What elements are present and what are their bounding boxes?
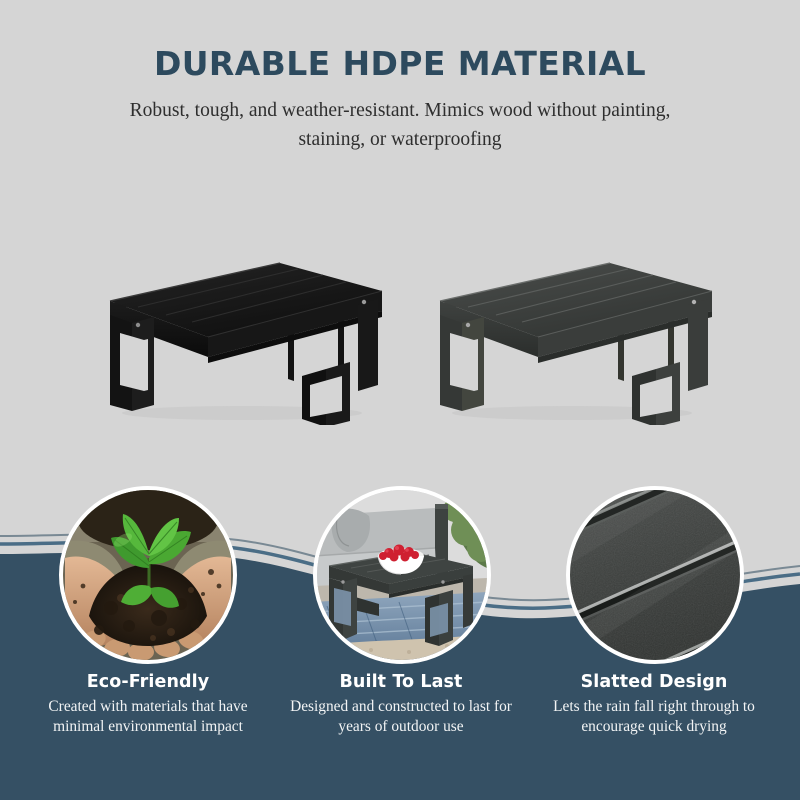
feature-image-built-to-last [313, 486, 491, 664]
feature-body-built-to-last: Designed and constructed to last for yea… [281, 697, 521, 736]
infographic-canvas: DURABLE HDPE MATERIAL Robust, tough, and… [0, 0, 800, 800]
top-section: DURABLE HDPE MATERIAL Robust, tough, and… [0, 0, 800, 560]
page-title: DURABLE HDPE MATERIAL [0, 44, 800, 83]
page-subtitle: Robust, tough, and weather-resistant. Mi… [110, 96, 690, 154]
feature-built-to-last: Built To Last Designed and constructed t… [281, 672, 521, 736]
feature-body-slatted-design: Lets the rain fall right through to enco… [534, 697, 774, 736]
feature-title-slatted-design: Slatted Design [534, 672, 774, 692]
feature-image-slatted-design [566, 486, 744, 664]
product-image-coffee-table-gray [422, 245, 722, 425]
feature-slatted-design: Slatted Design Lets the rain fall right … [534, 672, 774, 736]
feature-title-eco-friendly: Eco-Friendly [28, 672, 268, 692]
feature-title-built-to-last: Built To Last [281, 672, 521, 692]
feature-body-eco-friendly: Created with materials that have minimal… [28, 697, 268, 736]
feature-list: Eco-Friendly Created with materials that… [0, 672, 800, 800]
product-image-coffee-table-black [92, 245, 392, 425]
feature-eco-friendly: Eco-Friendly Created with materials that… [28, 672, 268, 736]
feature-image-eco-friendly [59, 486, 237, 664]
